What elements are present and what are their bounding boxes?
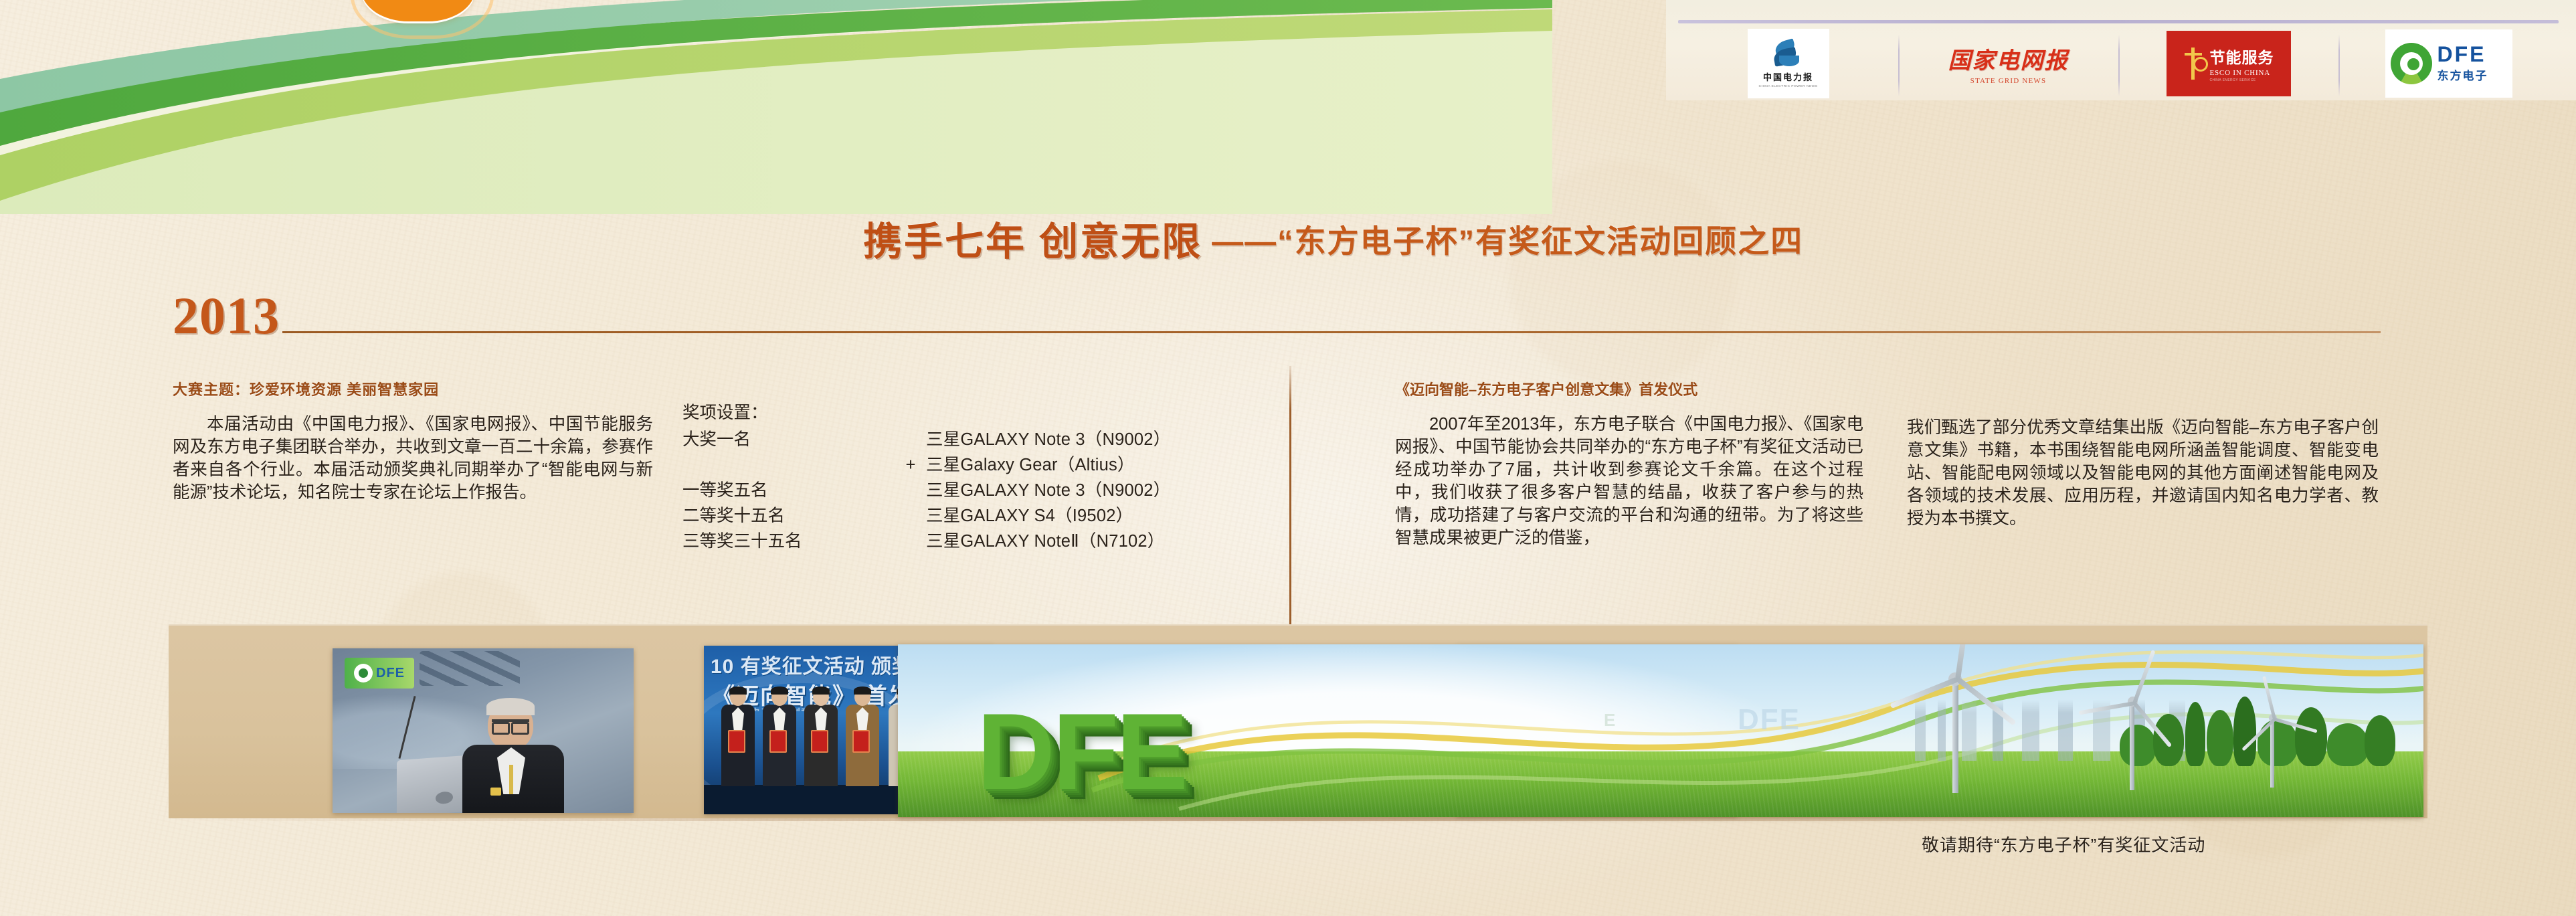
- logo-esco-in-china[interactable]: 节能服务 ESCO IN CHINA CHINA ENERGY SERVICE: [2118, 27, 2338, 100]
- award-prize: 三星GALAXY Note 3（N9002）: [926, 478, 1245, 503]
- page-title: 携手七年 创意无限 ——“东方电子杯”有奖征文活动回顾之四: [863, 211, 2375, 265]
- lanyard-shape: [509, 765, 513, 794]
- year-label: 2013: [173, 292, 280, 340]
- award-name: 一等奖五名: [682, 478, 895, 503]
- awards-title: 奖项设置：: [682, 400, 1245, 426]
- table-row: 二等奖十五名 三星GALAXY S4（I9502）: [682, 503, 1245, 529]
- green-swoosh-banner: [0, 0, 1552, 214]
- dfe-label-en: DFE: [2437, 44, 2488, 64]
- table-row: 三等奖三十五名 三星GALAXY NoteⅡ（N7102）: [682, 529, 1245, 554]
- sponsor-logo-bar: 中国电力报 CHINA ELECTRIC POWER NEWS 国家电网报 ST…: [1666, 0, 2576, 100]
- esco-label-zh: 节能服务: [2210, 45, 2274, 68]
- sgn-label-en: STATE GRID NEWS: [1970, 77, 2047, 85]
- award-prize: 三星GALAXY Note 3（N9002）: [926, 427, 1245, 452]
- contest-theme-kicker: 大赛主题：珍爱环境资源 美丽智慧家园: [173, 378, 653, 399]
- table-row: + 三星Galaxy Gear（Altius）: [682, 452, 1245, 478]
- book-launch-kicker: 《迈向智能–东方电子客户创意文集》首发仪式: [1395, 378, 1863, 399]
- sgn-label-zh: 国家电网报: [1948, 42, 2069, 75]
- award-prize: 三星Galaxy Gear（Altius）: [926, 452, 1245, 478]
- keyvisual-watermark-dfe: DFE: [1738, 703, 1801, 737]
- table-row: 大奖一名 三星GALAXY Note 3（N9002）: [682, 427, 1245, 452]
- photo-speaker-at-forum[interactable]: DFE: [333, 648, 634, 813]
- year-rule: [282, 331, 2381, 333]
- person-figure: [843, 689, 882, 786]
- person-figure: [760, 689, 799, 786]
- award-plus: [895, 427, 926, 452]
- awards-block: 奖项设置： 大奖一名 三星GALAXY Note 3（N9002） + 三星Ga…: [682, 400, 1245, 554]
- award-prize: 三星GALAXY S4（I9502）: [926, 503, 1245, 529]
- screen-text-glyph: [420, 651, 520, 686]
- award-name: 二等奖十五名: [682, 503, 895, 529]
- dfe-screen-label: DFE: [376, 666, 405, 681]
- table-row: 一等奖五名 三星GALAXY Note 3（N9002）: [682, 478, 1245, 503]
- award-name: [682, 452, 895, 478]
- mid-column: 《迈向智能–东方电子客户创意文集》首发仪式 2007年至2013年，东方电子联合…: [1395, 378, 1863, 549]
- left-column-paragraph: 本届活动由《中国电力报》、《国家电网报》、中国节能服务网及东方电子集团联合举办，…: [173, 413, 653, 504]
- esco-label-en: ESCO IN CHINA: [2210, 69, 2270, 77]
- poster-canvas: 中国电力报 CHINA ELECTRIC POWER NEWS 国家电网报 ST…: [0, 0, 2576, 916]
- wind-turbine-medium: [2076, 672, 2189, 790]
- photo-band: DFE 10 有奖征文活动 颁奖大典 《迈向智能》 首发仪式 — 东方电子客户创…: [169, 624, 2427, 818]
- speaker-figure: [460, 701, 567, 813]
- screen-dfe-logo: DFE: [345, 658, 414, 689]
- cepn-label-zh: 中国电力报: [1763, 70, 1813, 83]
- awards-table: 大奖一名 三星GALAXY Note 3（N9002） + 三星Galaxy G…: [682, 427, 1245, 554]
- photo-dfe-wind-farm-keyvisual[interactable]: E DFE DFE: [898, 644, 2423, 817]
- cepn-label-en: CHINA ELECTRIC POWER NEWS: [1758, 84, 1817, 88]
- glasses-icon: [492, 719, 529, 731]
- logo-china-electric-power-news[interactable]: 中国电力报 CHINA ELECTRIC POWER NEWS: [1678, 27, 1898, 100]
- right-column: 我们甄选了部分优秀文章结集出版《迈向智能–东方电子客户创意文集》书籍，本书围绕智…: [1907, 416, 2379, 530]
- award-prize: 三星GALAXY NoteⅡ（N7102）: [926, 529, 1245, 554]
- logo-state-grid-news[interactable]: 国家电网报 STATE GRID NEWS: [1898, 27, 2118, 100]
- award-name: 大奖一名: [682, 427, 895, 452]
- wind-turbine-small: [2229, 694, 2316, 788]
- logo-bar-rule: [1678, 20, 2559, 23]
- award-plus: [895, 478, 926, 503]
- left-column: 大赛主题：珍爱环境资源 美丽智慧家园 本届活动由《中国电力报》、《国家电网报》、…: [173, 378, 653, 504]
- hair-shape: [486, 698, 535, 715]
- person-figure: [719, 689, 757, 786]
- dfe-swirl-icon: [2391, 43, 2432, 84]
- dfe-swirl-icon: [354, 664, 373, 682]
- badge-icon: [490, 788, 501, 796]
- page-title-main: 携手七年 创意无限: [863, 210, 1202, 266]
- keyvisual-watermark-e: E: [1604, 710, 1615, 731]
- right-column-paragraph: 我们甄选了部分优秀文章结集出版《迈向智能–东方电子客户创意文集》书籍，本书围绕智…: [1907, 416, 2379, 530]
- logo-dfe-dongfang-electronics[interactable]: DFE 东方电子: [2338, 27, 2559, 100]
- page-title-sub: ——“东方电子杯”有奖征文活动回顾之四: [1212, 215, 1803, 262]
- award-name: 三等奖三十五名: [682, 529, 895, 554]
- esco-节-icon: [2183, 48, 2206, 80]
- award-plus: [895, 529, 926, 554]
- keyvisual-dfe-wordmark: DFE: [977, 698, 1186, 806]
- esco-label-en2: CHINA ENERGY SERVICE: [2210, 78, 2256, 82]
- dfe-label-zh: 东方电子: [2437, 66, 2488, 83]
- mid-column-paragraph: 2007年至2013年，东方电子联合《中国电力报》、《国家电网报》、中国节能协会…: [1395, 413, 1863, 549]
- award-plus: +: [895, 452, 926, 478]
- footer-caption: 敬请期待“东方电子杯”有奖征文活动: [1922, 832, 2430, 856]
- wind-turbine-large: [1881, 644, 2029, 793]
- cepn-wave-icon: [1772, 39, 1805, 69]
- year-heading: 2013: [173, 288, 2381, 340]
- person-figure: [802, 689, 840, 786]
- award-plus: [895, 503, 926, 529]
